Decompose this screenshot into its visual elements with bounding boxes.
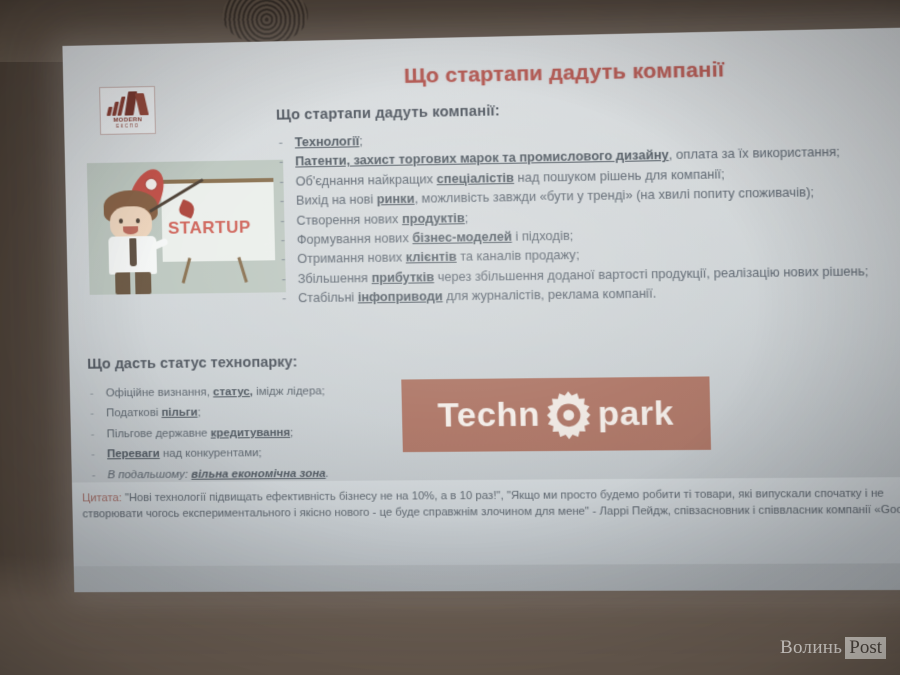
list-item-prefix: Об'єднання найкращих [295,172,436,188]
list-item-keyword: Технології [295,134,360,149]
list-item-keyword: вільна економічна зона [191,467,326,480]
list-item-suffix: через збільшення доданої вартості продук… [434,264,869,284]
list-item-keyword: інфоприводи [358,289,443,304]
list-item-suffix: ; [465,211,469,225]
modern-logo-sub: ЕКСПО [116,123,140,128]
list-item-suffix: над конкурентами; [160,447,262,460]
person-eye-left [119,218,123,223]
list-item-keyword: пільги [161,407,197,419]
list-item-suffix: ; [197,407,200,419]
watermark-primary: Волинь [780,637,842,659]
list-item-keyword: кредитування [211,427,291,440]
list-item-suffix: для журналістів, реклама компанії. [442,286,656,303]
projection-screen: MODERN ЕКСПО Що стартапи дадуть компанії… [62,27,900,592]
presentation-slide: MODERN ЕКСПО Що стартапи дадуть компанії… [62,27,900,592]
list-item-suffix: імідж лідера; [253,385,325,398]
person-eye-right [136,218,140,223]
list-item-suffix: і підходів; [512,229,574,244]
list-item-prefix: Офіційне визнання, [106,386,214,399]
section-one-list: Технології;Патенти, захист торгових маро… [276,121,900,309]
list-item-prefix: Отримання нових [297,251,406,267]
list-item-keyword: продуктів [402,211,465,226]
list-item-prefix: Вихід на нові [296,192,377,207]
technopark-logo: Techn park [401,376,711,452]
list-item-keyword: прибутків [371,270,434,285]
quote-lead: Цитата: [82,492,122,504]
list-item-suffix: , можливість завжди «бути у тренді» (на … [414,185,814,206]
list-item-prefix: Створення нових [296,212,402,228]
list-item: Пільгове державне кредитування; [89,423,391,444]
list-item-keyword: Переваги [107,448,160,460]
section-two-list: Офіційне визнання, статус, імідж лідера;… [88,382,392,487]
section-two-heading: Що дасть статус технопарку: [87,354,298,372]
quote-text: "Нові технології підвищать ефективність … [82,488,900,521]
list-item-suffix: ; [290,427,293,439]
list-item-suffix: та каналів продажу; [456,248,579,264]
startup-illustration: STARTUP [87,160,286,295]
list-item: Податкові пільги; [88,402,390,424]
list-item-suffix: над пошуком рішень для компанії; [514,167,725,185]
modern-mark-icon [106,90,148,116]
list-item-prefix: Збільшення [298,271,372,286]
technopark-text-right: park [597,394,674,434]
list-item-prefix: Пільгове державне [107,427,211,440]
watermark-secondary: Post [845,637,886,659]
list-item-keyword: спеціалістів [436,171,514,186]
photo-scene: MODERN ЕКСПО Що стартапи дадуть компанії… [0,0,900,675]
list-item-suffix: . [326,467,329,479]
list-item-keyword: клієнтів [406,250,457,265]
list-item: Офіційне визнання, статус, імідж лідера; [88,382,390,404]
list-item-keyword: бізнес-моделей [412,229,512,245]
list-item-suffix: , оплата за їх використання; [669,145,840,162]
watermark: Волинь Post [780,637,886,659]
modern-expo-logo: MODERN ЕКСПО [99,86,156,135]
list-item-keyword: ринки [377,192,415,207]
technopark-text-left: Techn [437,395,540,435]
gear-icon [542,388,597,441]
person-tie [129,238,137,266]
quote-block: Цитата: "Нові технології підвищать ефект… [72,477,900,566]
list-item-keyword: статус, [213,386,253,398]
illustration-label: STARTUP [168,217,251,238]
list-item-prefix: Стабільні [298,290,358,305]
list-item-suffix: ; [359,134,363,148]
list-item: Переваги над конкурентами; [89,443,391,464]
list-item-prefix: Податкові [106,407,162,419]
list-item-prefix: Формування нових [297,231,413,247]
person-legs [115,272,151,294]
list-item-prefix: В подальшому: [107,468,191,481]
slide-title: Що стартапи дадуть компанії [298,56,833,91]
section-one-heading: Що стартапи дадуть компанії: [276,103,500,123]
